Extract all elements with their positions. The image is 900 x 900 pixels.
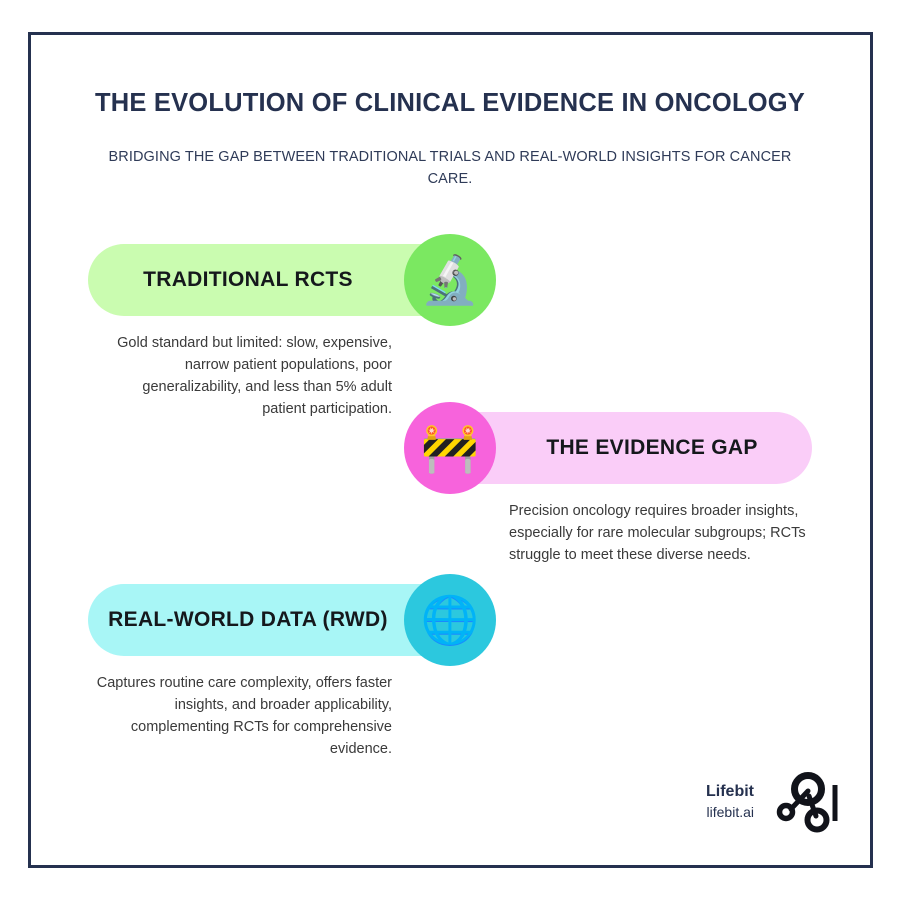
section-label-1: TRADITIONAL RCTS <box>143 268 353 292</box>
section-label-2: THE EVIDENCE GAP <box>546 436 757 460</box>
construction-barrier-icon-glyph: 🚧 <box>421 424 480 471</box>
footer-text-block: Lifebit lifebit.ai <box>706 781 754 822</box>
microscope-icon-glyph: 🔬 <box>421 256 480 303</box>
brand-name: Lifebit <box>706 781 754 803</box>
brand-url: lifebit.ai <box>706 803 754 823</box>
infographic-canvas: THE EVOLUTION OF CLINICAL EVIDENCE IN ON… <box>0 0 900 900</box>
section-body-3: Captures routine care complexity, offers… <box>96 672 392 760</box>
lifebit-node-graph-logo <box>768 769 840 835</box>
footer-branding: Lifebit lifebit.ai <box>640 762 840 842</box>
page-subtitle: BRIDGING THE GAP BETWEEN TRADITIONAL TRI… <box>85 146 815 191</box>
construction-barrier-icon: 🚧 <box>404 402 496 494</box>
section-label-3: REAL-WORLD DATA (RWD) <box>108 608 388 632</box>
section-body-1: Gold standard but limited: slow, expensi… <box>96 332 392 420</box>
globe-icon: 🌐 <box>404 574 496 666</box>
header: THE EVOLUTION OF CLINICAL EVIDENCE IN ON… <box>60 88 840 191</box>
page-title: THE EVOLUTION OF CLINICAL EVIDENCE IN ON… <box>60 88 840 120</box>
section-body-2: Precision oncology requires broader insi… <box>509 500 809 566</box>
microscope-icon: 🔬 <box>404 234 496 326</box>
globe-icon-glyph: 🌐 <box>421 596 480 643</box>
